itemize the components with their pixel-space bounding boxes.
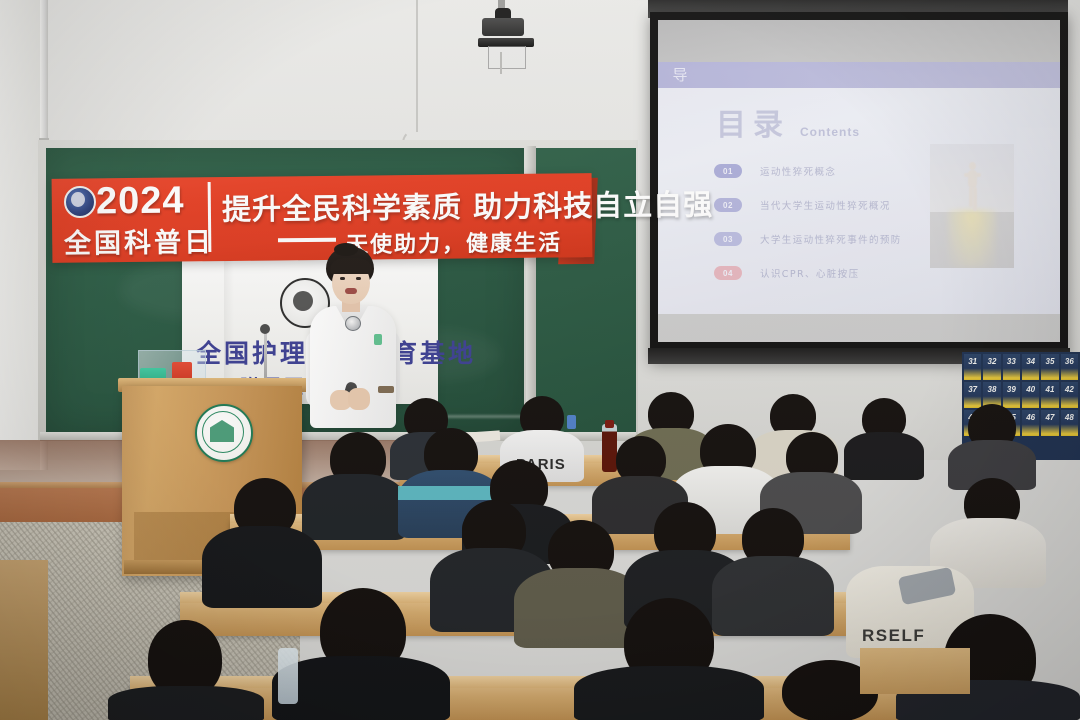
pocket-slot: 40 bbox=[1022, 382, 1039, 408]
bottle-cap-icon bbox=[605, 420, 614, 428]
projector-wires bbox=[500, 52, 502, 74]
projection-screen-surface: 导 目录 Contents 01 运动性猝死概念 02 当代大学生运动性猝死概况… bbox=[658, 20, 1060, 342]
toc-text-04: 认识CPR、心脏按压 bbox=[760, 266, 859, 280]
pocket-slot: 39 bbox=[1003, 382, 1020, 408]
pocket-slot: 48 bbox=[1061, 410, 1078, 436]
pocket-slot: 35 bbox=[1041, 354, 1058, 380]
toc-text-03: 大学生运动性猝死事件的预防 bbox=[760, 232, 902, 246]
cola-bottle bbox=[602, 424, 617, 472]
pocket-slot: 41 bbox=[1041, 382, 1058, 408]
pocket-slot: 46 bbox=[1022, 410, 1039, 436]
slide-guide-icon: 导 bbox=[670, 66, 690, 85]
pocket-slot: 47 bbox=[1041, 410, 1058, 436]
speaker-fringe bbox=[330, 258, 372, 274]
audience-body bbox=[108, 686, 264, 720]
wristwatch bbox=[378, 386, 394, 393]
bench-backrest bbox=[0, 560, 48, 720]
slide-toc-item: 04 认识CPR、心脏按压 bbox=[714, 266, 859, 280]
toc-badge-04: 04 bbox=[714, 266, 742, 280]
toc-text-02: 当代大学生运动性猝死概况 bbox=[760, 198, 891, 212]
audience-body bbox=[202, 526, 322, 608]
pocket-slot: 36 bbox=[1061, 354, 1078, 380]
audience-body bbox=[272, 656, 450, 720]
speaker-eye bbox=[340, 277, 345, 280]
speaker-hair-bun bbox=[334, 243, 358, 256]
pocket-slot: 31 bbox=[964, 354, 981, 380]
photo-sun-glow bbox=[948, 210, 996, 268]
ceiling-projector bbox=[482, 18, 524, 36]
jacket-stripe bbox=[398, 486, 502, 500]
toc-badge-03: 03 bbox=[714, 232, 742, 246]
pocket-slot: 42 bbox=[1061, 382, 1078, 408]
audience-body bbox=[712, 556, 834, 636]
pen bbox=[567, 415, 576, 429]
speaker-right-hand bbox=[348, 388, 370, 410]
left-wall-panel bbox=[0, 0, 40, 470]
name-badge bbox=[345, 316, 361, 331]
slide-toc-item: 01 运动性猝死概念 bbox=[714, 164, 836, 178]
toc-badge-01: 01 bbox=[714, 164, 742, 178]
toc-badge-02: 02 bbox=[714, 198, 742, 212]
banner-dash-rule bbox=[278, 238, 336, 243]
runner-silhouette-photo bbox=[930, 144, 1014, 268]
lecture-hall-photo: 导 目录 Contents 01 运动性猝死概念 02 当代大学生运动性猝死概况… bbox=[0, 0, 1080, 720]
banner-event-name: 全国科普日 bbox=[64, 220, 214, 261]
audience-body bbox=[302, 474, 406, 540]
hospital-seal-core-icon bbox=[293, 291, 313, 311]
gooseneck-microphone-head bbox=[260, 324, 270, 334]
runner-figure-icon bbox=[964, 162, 980, 214]
pocket-slot: 34 bbox=[1022, 354, 1039, 380]
slide-title-cn: 目录 bbox=[716, 100, 790, 144]
toc-text-01: 运动性猝死概念 bbox=[760, 164, 836, 178]
pocket-slot: 37 bbox=[964, 382, 981, 408]
speaker-mouth bbox=[345, 288, 357, 294]
projector-cage bbox=[488, 46, 526, 69]
water-bottle bbox=[278, 648, 298, 704]
banner-sub-slogan: 天使助力，健康生活 bbox=[346, 225, 562, 259]
microphone-cable bbox=[416, 0, 418, 132]
audience-body bbox=[844, 432, 924, 480]
banner-year: 2024 bbox=[96, 180, 185, 224]
presentation-slide: 导 目录 Contents 01 运动性猝死概念 02 当代大学生运动性猝死概况… bbox=[658, 62, 1060, 314]
audience-body bbox=[574, 666, 764, 720]
pocket-slot: 33 bbox=[1003, 354, 1020, 380]
bench-backrest bbox=[860, 648, 970, 694]
emblem-inner-icon bbox=[71, 192, 85, 207]
green-pin bbox=[374, 334, 382, 345]
slide-toc-item: 02 当代大学生运动性猝死概况 bbox=[714, 198, 891, 212]
speaker-eye bbox=[356, 277, 361, 280]
banner-main-slogan: 提升全民科学素质 助力科技自立自强 bbox=[222, 181, 714, 228]
slide-toc-item: 03 大学生运动性猝死事件的预防 bbox=[714, 232, 902, 246]
pocket-slot: 32 bbox=[983, 354, 1000, 380]
slide-title-en: Contents bbox=[800, 125, 860, 144]
slide-header-bar bbox=[658, 62, 1060, 88]
yourself-hoodie-text: RSELF bbox=[862, 626, 925, 646]
slide-title: 目录 Contents bbox=[716, 100, 860, 144]
